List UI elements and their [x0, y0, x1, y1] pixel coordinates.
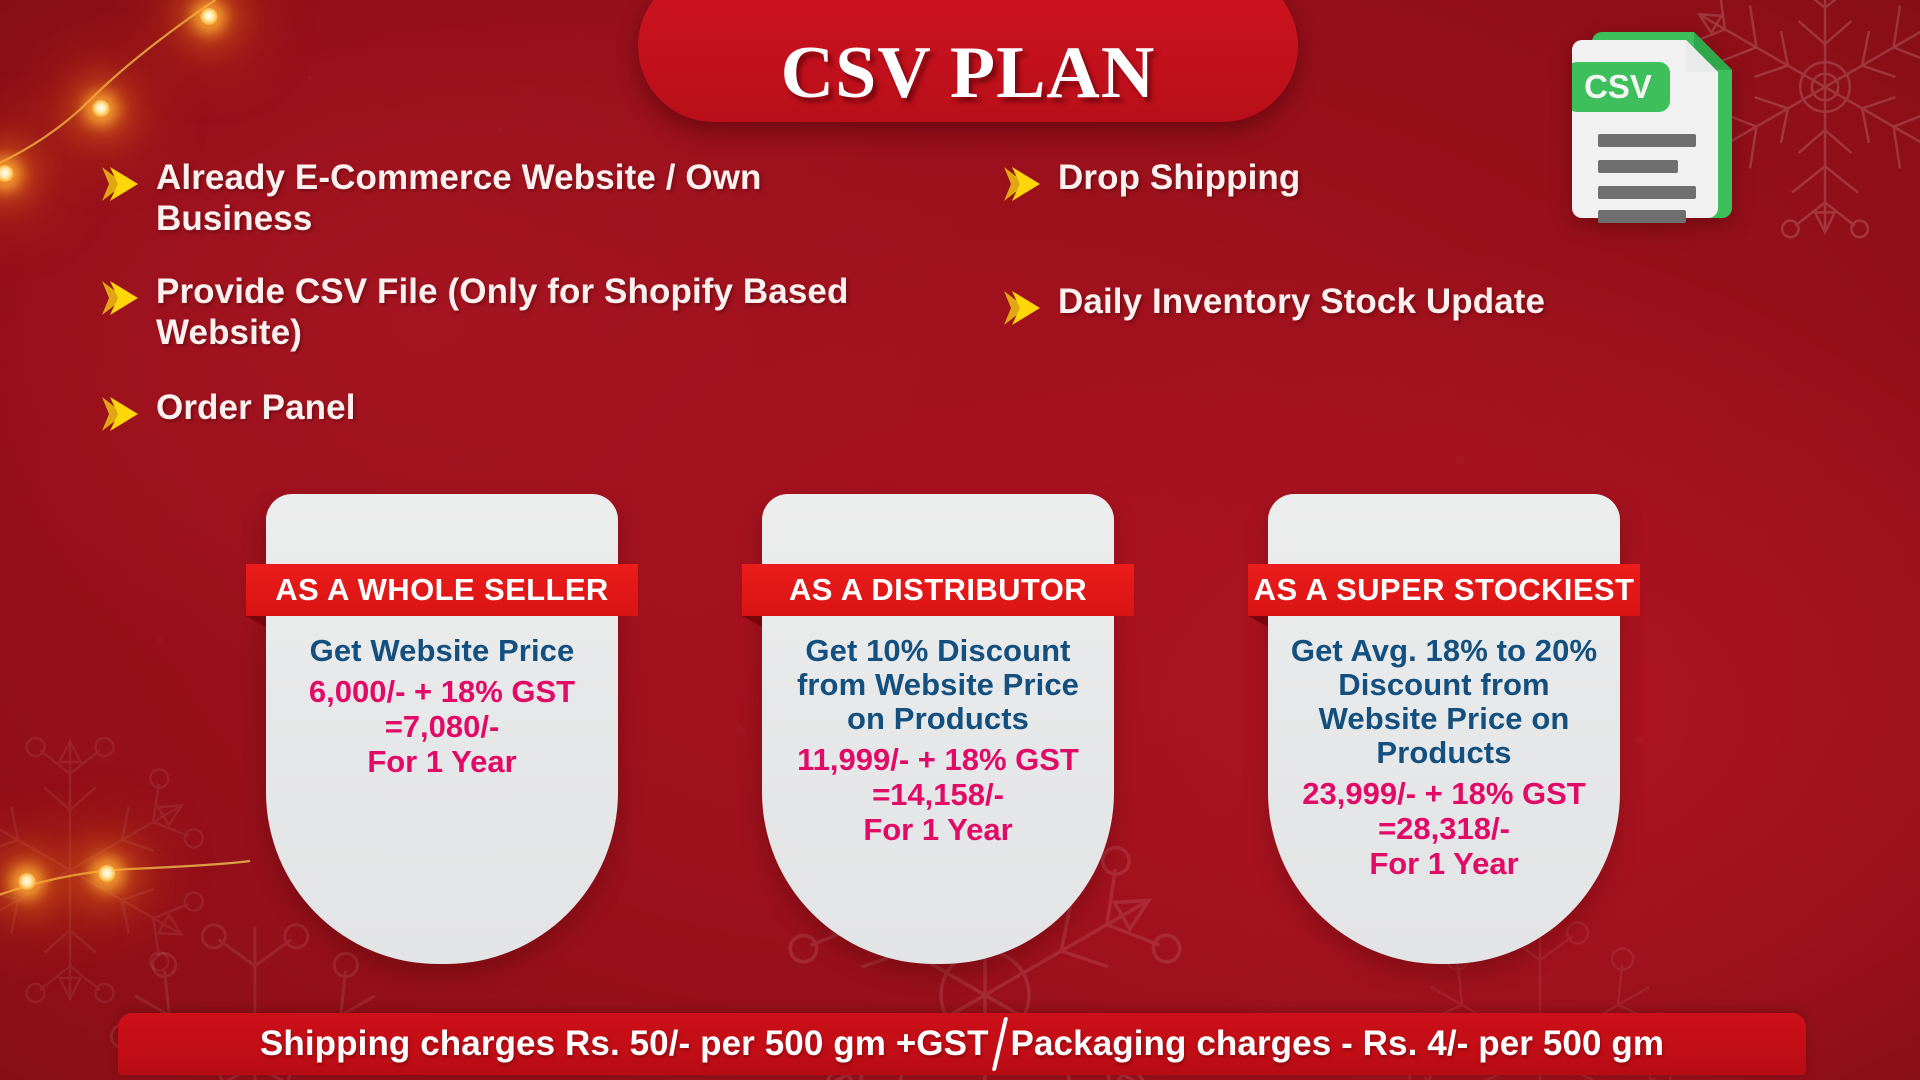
snowflake-decoration-mid-left [0, 720, 220, 1020]
plan-ribbon-label: AS A SUPER STOCKIEST [1254, 572, 1635, 608]
chevron-double-right-icon [1000, 286, 1044, 330]
plan-ribbon: AS A DISTRIBUTOR [742, 564, 1134, 616]
plan-ribbon: AS A WHOLE SELLER [246, 564, 638, 616]
plan-card-body: Get Website Price 6,000/- + 18% GST =7,0… [266, 634, 618, 779]
feature-item: Already E-Commerce Website / Own Busines… [98, 158, 798, 240]
chevron-double-right-icon [98, 276, 142, 320]
csv-file-icon: CSV [1572, 18, 1744, 228]
plan-ribbon: AS A SUPER STOCKIEST [1248, 564, 1640, 616]
page-title: CSV PLAN [781, 36, 1156, 110]
banner-divider [991, 1017, 1007, 1071]
chevron-double-right-icon [98, 392, 142, 436]
plan-card-super-stockiest[interactable]: AS A SUPER STOCKIEST Get Avg. 18% to 20%… [1268, 494, 1620, 964]
feature-item: Provide CSV File (Only for Shopify Based… [98, 272, 858, 354]
feature-item: Daily Inventory Stock Update [1000, 282, 1700, 330]
feature-label: Order Panel [156, 388, 356, 429]
plan-card-whole-seller[interactable]: AS A WHOLE SELLER Get Website Price 6,00… [266, 494, 618, 964]
plan-price: 23,999/- + 18% GST =28,318/- For 1 Year [1282, 776, 1606, 881]
poster-canvas: CSV PLAN CSV [0, 0, 1920, 1080]
packaging-charges-label: Packaging charges - Rs. 4/- per 500 gm [1011, 1024, 1665, 1064]
plan-ribbon-label: AS A DISTRIBUTOR [789, 572, 1087, 608]
plan-heading: Get Avg. 18% to 20% Discount from Websit… [1282, 634, 1606, 770]
chevron-double-right-icon [1000, 162, 1044, 206]
plan-heading: Get 10% Discount from Website Price on P… [776, 634, 1100, 736]
plan-heading: Get Website Price [280, 634, 604, 668]
feature-item: Drop Shipping [1000, 158, 1520, 206]
feature-label: Provide CSV File (Only for Shopify Based… [156, 272, 858, 354]
shipping-charges-label: Shipping charges Rs. 50/- per 500 gm +GS… [260, 1024, 989, 1064]
feature-label: Daily Inventory Stock Update [1058, 282, 1545, 323]
charges-banner-text: Shipping charges Rs. 50/- per 500 gm +GS… [260, 1017, 1664, 1071]
plan-card-body: Get Avg. 18% to 20% Discount from Websit… [1268, 634, 1620, 881]
page-title-pill: CSV PLAN [638, 0, 1298, 122]
string-lights-bottom-left [0, 795, 280, 975]
charges-banner: Shipping charges Rs. 50/- per 500 gm +GS… [118, 1013, 1806, 1075]
feature-label: Already E-Commerce Website / Own Busines… [156, 158, 798, 240]
feature-label: Drop Shipping [1058, 158, 1300, 199]
csv-badge-text: CSV [1584, 68, 1652, 105]
chevron-double-right-icon [98, 162, 142, 206]
feature-item: Order Panel [98, 388, 618, 436]
plan-card-body: Get 10% Discount from Website Price on P… [762, 634, 1114, 847]
plan-ribbon-label: AS A WHOLE SELLER [275, 572, 608, 608]
plan-card-distributor[interactable]: AS A DISTRIBUTOR Get 10% Discount from W… [762, 494, 1114, 964]
plan-price: 6,000/- + 18% GST =7,080/- For 1 Year [280, 674, 604, 779]
plan-price: 11,999/- + 18% GST =14,158/- For 1 Year [776, 742, 1100, 847]
